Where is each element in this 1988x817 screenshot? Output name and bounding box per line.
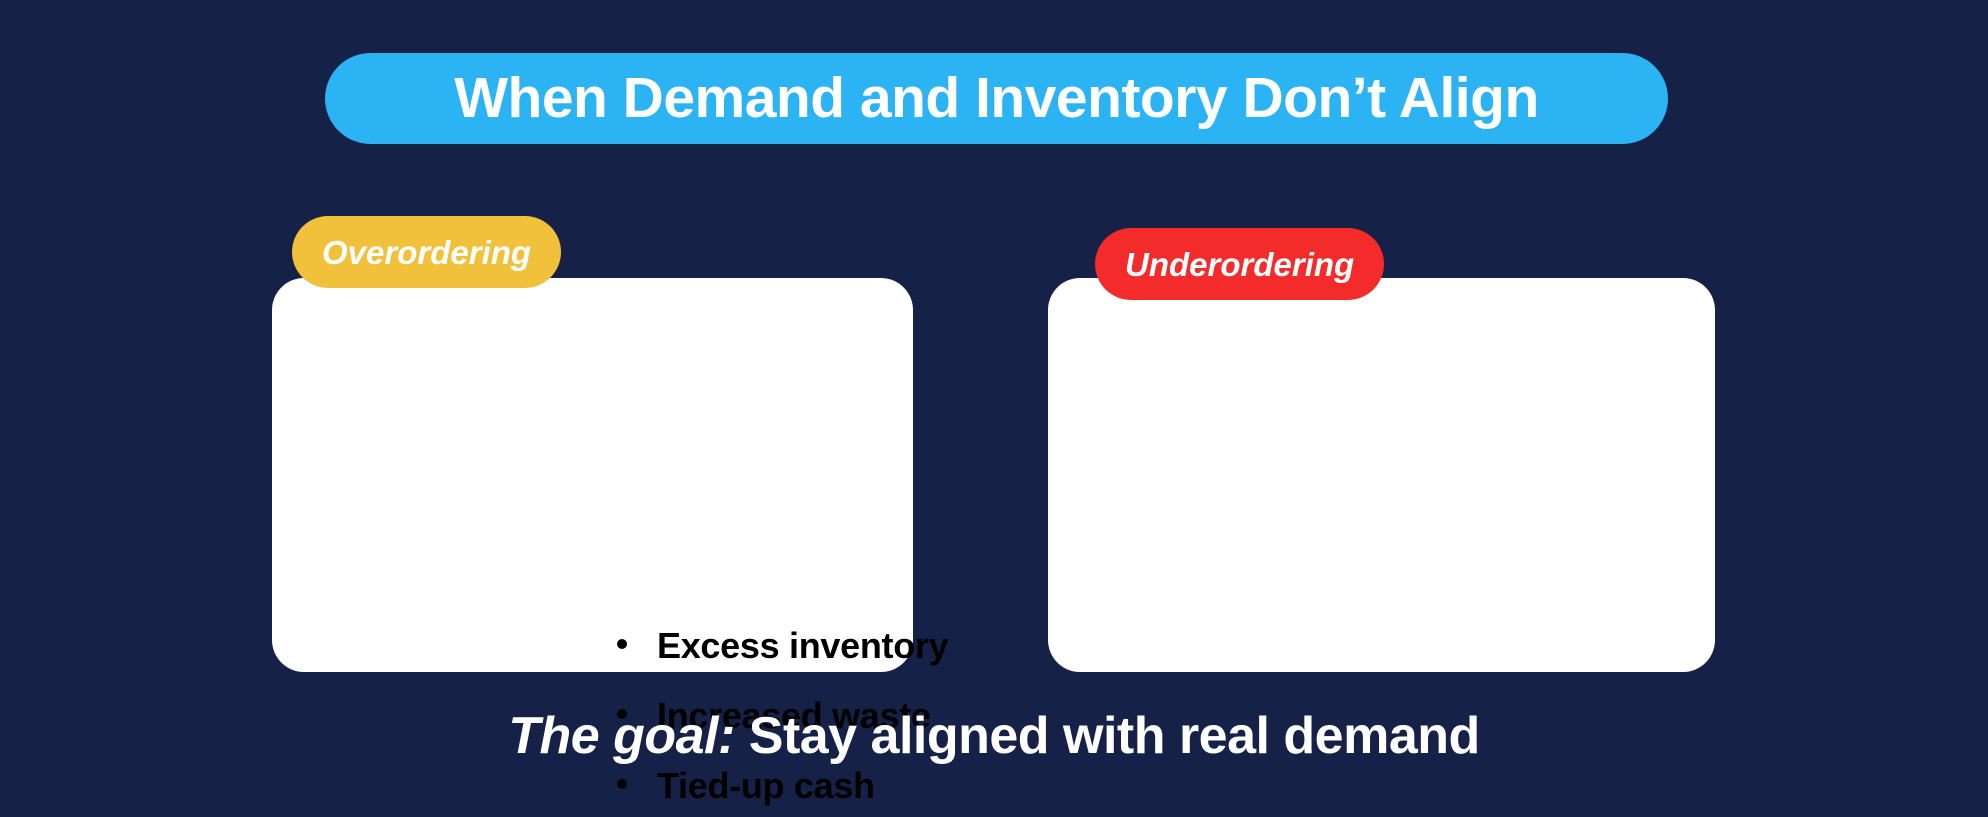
- card-underordering: Stockouts Missed sales Customer frustrat…: [1048, 278, 1715, 672]
- list-item-label: Tied-up cash: [657, 768, 875, 804]
- list-item: Tied-up cash: [617, 768, 948, 804]
- title-pill: When Demand and Inventory Don’t Align: [325, 53, 1668, 144]
- status-badge-overordering: Overordering: [292, 216, 561, 288]
- footer-emphasis-text: The goal:: [508, 707, 735, 765]
- status-badge-underordering: Underordering: [1095, 228, 1384, 300]
- footer-caption: The goal: Stay aligned with real demand: [0, 706, 1988, 766]
- card-overordering: Excess inventory Increased waste Tied-up…: [272, 278, 913, 672]
- status-badge-label: Underordering: [1125, 248, 1354, 281]
- bullet-dot-icon: [617, 779, 627, 789]
- footer-rest-text: Stay aligned with real demand: [735, 707, 1480, 765]
- status-badge-label: Overordering: [322, 236, 531, 269]
- page-title: When Demand and Inventory Don’t Align: [454, 70, 1539, 127]
- bullet-dot-icon: [617, 639, 627, 649]
- list-item-label: Excess inventory: [657, 628, 948, 664]
- list-item: Excess inventory: [617, 628, 948, 664]
- slide-canvas: When Demand and Inventory Don’t Align Ex…: [0, 0, 1988, 817]
